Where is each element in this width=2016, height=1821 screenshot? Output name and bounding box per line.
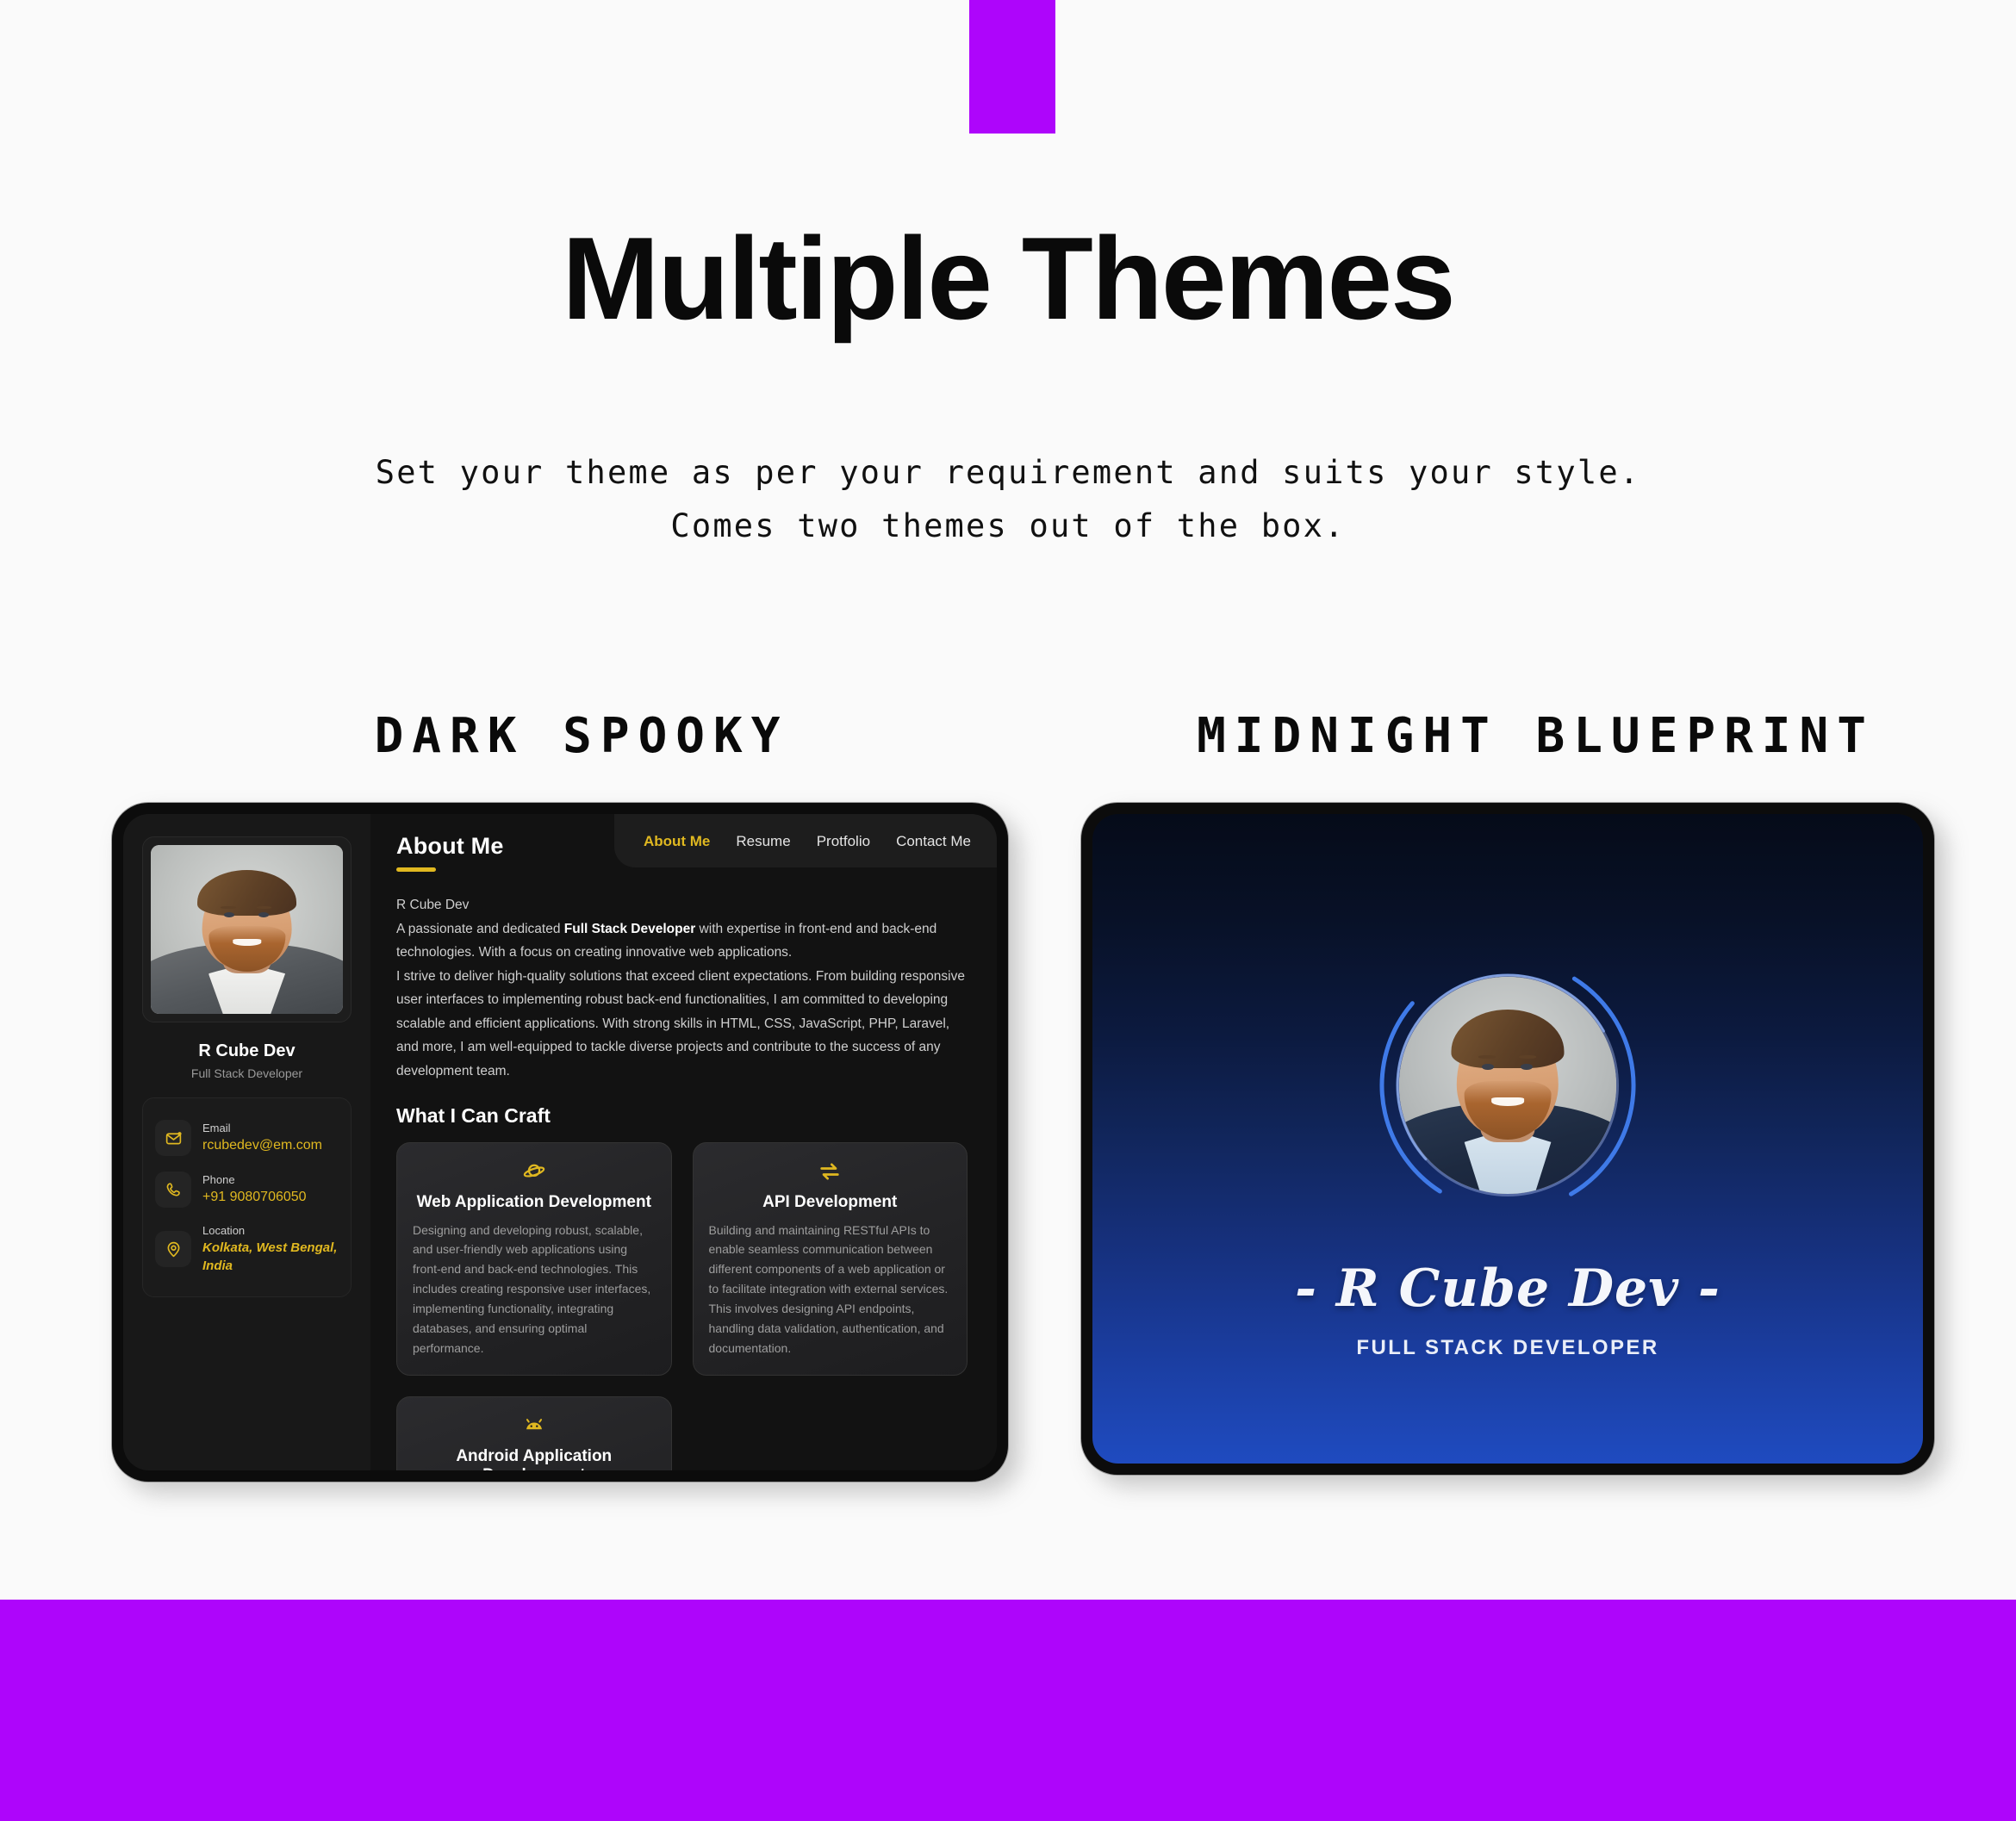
planet-icon [413,1159,656,1184]
tablet-frame-dark-spooky: R Cube Dev Full Stack Developer Email rc… [112,803,1008,1482]
portrait-illustration [151,845,343,1014]
brand-logo-text: - R Cube Dev - [1295,1259,1720,1319]
app-dark-spooky: R Cube Dev Full Stack Developer Email rc… [123,814,997,1470]
about-paragraph-1: A passionate and dedicated Full Stack De… [396,917,968,965]
craft-card-android-application-development[interactable]: Android Application Development Building… [396,1396,672,1470]
nav-item-about-me[interactable]: About Me [644,833,710,850]
contact-value: rcubedev@em.com [202,1138,322,1153]
craft-heading: What I Can Craft [396,1104,968,1128]
contact-label: Location [202,1224,245,1237]
heading-underline [396,867,436,872]
contact-label: Phone [202,1173,235,1186]
about-paragraphs: R Cube Dev A passionate and dedicated Fu… [396,893,968,1084]
contact-text: Phone +91 9080706050 [202,1172,307,1207]
about-name-line: R Cube Dev [396,893,968,917]
contact-row-phone[interactable]: Phone +91 9080706050 [155,1164,339,1215]
subtitle-line-2: Comes two themes out of the box. [0,500,2016,553]
avatar-block [1374,952,1641,1219]
portrait-illustration [1399,977,1616,1194]
page-root: Multiple Themes Set your theme as per yo… [0,0,2016,1821]
theme-label-midnight-blueprint: MIDNIGHT BLUEPRINT [1068,708,2003,764]
panel-heading-wrap: About Me [370,814,504,872]
about-paragraph-2: I strive to deliver high-quality solutio… [396,965,968,1084]
page-subtitle: Set your theme as per your requirement a… [0,446,2016,553]
tablet-frame-midnight-blueprint: - R Cube Dev - FULL STACK DEVELOPER [1081,803,1934,1475]
avatar [1399,977,1616,1194]
panel-topbar: About Me About Me Resume Protfolio Conta… [370,814,997,888]
about-p1-part-a: A passionate and dedicated [396,922,564,936]
contact-card: Email rcubedev@em.com Phone +91 90807060… [142,1097,352,1297]
page-title: Multiple Themes [0,217,2016,340]
contact-row-location[interactable]: Location Kolkata, West Bengal, India [155,1215,339,1283]
panel-body: R Cube Dev A passionate and dedicated Fu… [370,888,997,1470]
contact-value: +91 9080706050 [202,1190,307,1204]
purple-accent-tab-top [969,0,1055,134]
main-navigation: About Me Resume Protfolio Contact Me [614,814,997,867]
subtitle-line-1: Set your theme as per your requirement a… [0,446,2016,500]
profile-sidebar: R Cube Dev Full Stack Developer Email rc… [123,814,370,1470]
contact-text: Location Kolkata, West Bengal, India [202,1223,339,1275]
contact-label: Email [202,1122,231,1134]
panel-heading: About Me [396,833,504,860]
nav-item-contact-me[interactable]: Contact Me [896,833,971,850]
craft-card-title: API Development [709,1193,952,1212]
craft-grid: Web Application Development Designing an… [396,1142,968,1470]
envelope-icon [155,1120,191,1156]
theme-label-dark-spooky: DARK SPOOKY [116,708,1047,764]
craft-card-description: Designing and developing robust, scalabl… [413,1221,656,1358]
avatar-frame [142,836,352,1022]
brand-role-text: FULL STACK DEVELOPER [1356,1336,1658,1360]
nav-item-resume[interactable]: Resume [736,833,790,850]
contact-row-email[interactable]: Email rcubedev@em.com [155,1112,339,1164]
craft-card-description: Building and maintaining RESTful APIs to… [709,1221,952,1358]
craft-card-title: Android Application Development [413,1447,656,1470]
profile-name: R Cube Dev [142,1041,352,1061]
craft-card-web-application-development[interactable]: Web Application Development Designing an… [396,1142,672,1377]
avatar [151,845,343,1014]
screen-dark-spooky: R Cube Dev Full Stack Developer Email rc… [123,814,997,1470]
exchange-arrows-icon [709,1159,952,1184]
app-midnight-blueprint: - R Cube Dev - FULL STACK DEVELOPER [1092,814,1923,1464]
android-icon [413,1413,656,1439]
contact-text: Email rcubedev@em.com [202,1121,322,1155]
about-me-panel: About Me About Me Resume Protfolio Conta… [370,814,997,1470]
location-pin-icon [155,1231,191,1267]
nav-item-portfolio[interactable]: Protfolio [817,833,870,850]
profile-role: Full Stack Developer [142,1066,352,1080]
about-p1-bold: Full Stack Developer [564,922,695,936]
phone-icon [155,1172,191,1208]
contact-value: Kolkata, West Bengal, India [202,1240,337,1273]
screen-midnight-blueprint: - R Cube Dev - FULL STACK DEVELOPER [1092,814,1923,1464]
purple-accent-band-bottom [0,1600,2016,1821]
craft-card-api-development[interactable]: API Development Building and maintaining… [693,1142,968,1377]
craft-card-title: Web Application Development [413,1193,656,1212]
